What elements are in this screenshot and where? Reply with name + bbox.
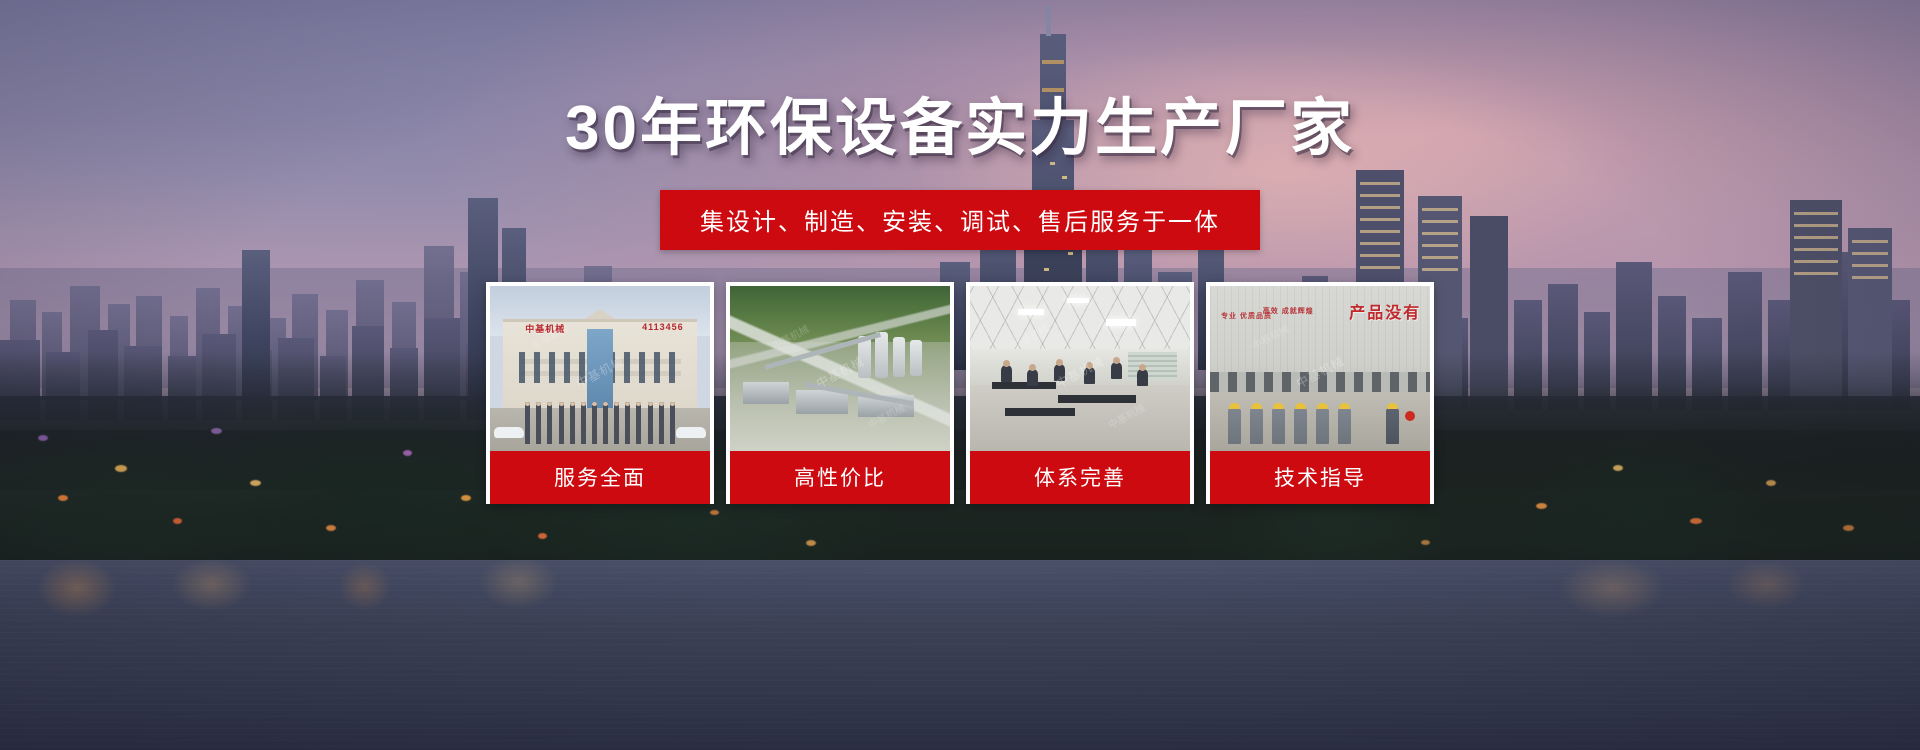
photo-person-5 (1111, 362, 1122, 379)
photo-person-2 (1027, 369, 1038, 386)
photo-car-left (494, 427, 524, 438)
feature-card-value[interactable]: 中基机械 中基机械 中基机械 高性价比 (726, 282, 954, 504)
photo-person-4 (1084, 367, 1095, 384)
photo-worker-7 (1386, 408, 1399, 444)
feature-card-guidance[interactable]: 专业 优质品质 高效 成就辉煌 产品没有 中基机械 中基机械 技术指导 (1206, 282, 1434, 504)
photo-desk-1 (992, 382, 1056, 389)
card-caption-guidance: 技术指导 (1210, 451, 1430, 504)
card-photo-office-interior: 中基机械 中基机械 中基机械 (970, 286, 1190, 451)
photo-ceiling-lamp-1 (1018, 309, 1044, 315)
photo-shed-2 (796, 390, 848, 414)
photo-person-1 (1001, 365, 1012, 382)
factory-sign-mid: 高效 成就辉煌 (1263, 307, 1314, 318)
photo-window-blinds (1128, 352, 1176, 380)
photo-desk-3 (1005, 408, 1075, 416)
card-caption-value: 高性价比 (730, 451, 950, 504)
photo-worker-4 (1294, 408, 1307, 444)
photo-factory-doors (1210, 372, 1430, 392)
photo-silo-4 (910, 340, 922, 376)
photo-silo-3 (893, 337, 905, 377)
card-photo-industrial-plant: 中基机械 中基机械 中基机械 (730, 286, 950, 451)
photo-staff-line (525, 402, 675, 445)
photo-ceiling-lamp-3 (1067, 298, 1089, 303)
photo-worker-5 (1316, 408, 1329, 444)
card-caption-system: 体系完善 (970, 451, 1190, 504)
photo-worker-6 (1338, 408, 1351, 444)
hero-banner: 30年环保设备实力生产厂家 集设计、制造、安装、调试、售后服务于一体 中基机械 … (0, 0, 1920, 750)
company-sign-text: 中基机械 (525, 322, 565, 335)
water-reflections (0, 560, 1920, 630)
photo-desk-2 (1058, 395, 1136, 403)
photo-worker-3 (1272, 408, 1285, 444)
photo-worker-1 (1228, 408, 1241, 444)
photo-worker-2 (1250, 408, 1263, 444)
subtitle-banner: 集设计、制造、安装、调试、售后服务于一体 (660, 190, 1260, 250)
photo-ceiling (970, 286, 1190, 349)
feature-card-system[interactable]: 中基机械 中基机械 中基机械 体系完善 (966, 282, 1194, 504)
page-title: 30年环保设备实力生产厂家 (0, 98, 1920, 160)
photo-person-6 (1137, 369, 1148, 386)
card-caption-service: 服务全面 (490, 451, 710, 504)
company-phone-text: 4113456 (642, 322, 684, 332)
card-photo-office-building: 中基机械 4113456 中基机械 中基机械 (490, 286, 710, 451)
feature-card-row: 中基机械 4113456 中基机械 中基机械 服务全面 (486, 282, 1434, 504)
feature-card-service[interactable]: 中基机械 4113456 中基机械 中基机械 服务全面 (486, 282, 714, 504)
photo-car-right (676, 427, 706, 438)
card-photo-factory-workers: 专业 优质品质 高效 成就辉煌 产品没有 中基机械 中基机械 (1210, 286, 1430, 451)
river-water (0, 560, 1920, 750)
photo-person-3 (1054, 364, 1065, 381)
photo-red-helmet (1405, 411, 1415, 421)
photo-shed-1 (743, 382, 789, 404)
photo-ceiling-lamp-2 (1106, 319, 1136, 326)
photo-silo-2 (875, 332, 888, 378)
factory-sign-main: 产品没有 (1349, 299, 1421, 323)
